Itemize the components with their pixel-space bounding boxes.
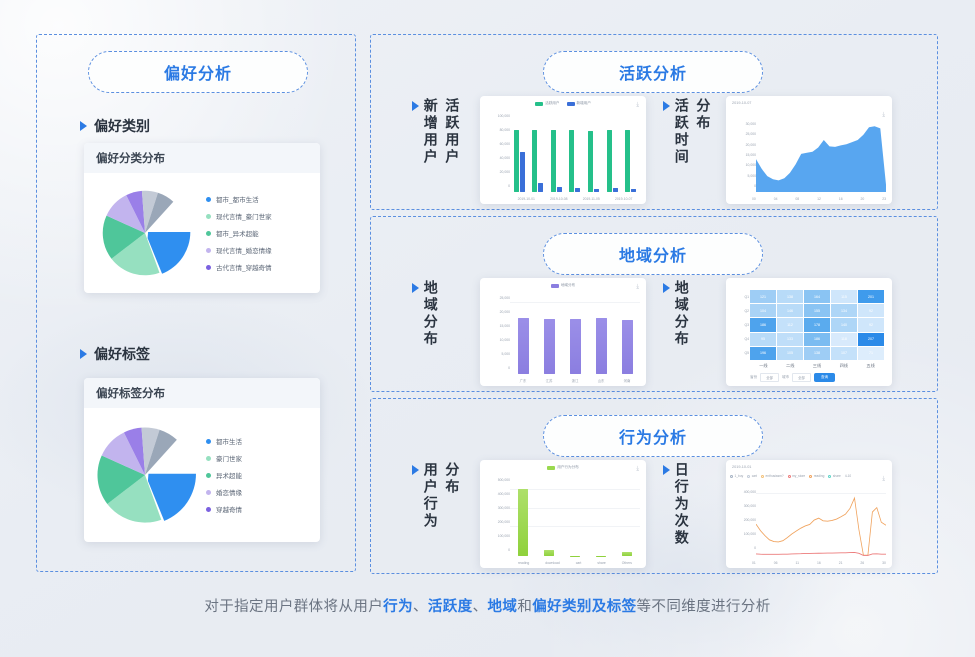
legend-dot-icon [206, 490, 211, 495]
y-tick: 40,000 [500, 156, 510, 160]
legend-label: 1_buy [735, 474, 744, 478]
bar-group [607, 114, 618, 192]
chart-card-active-time: 2019-10-07 ⤓ 30,000 25,000 20,000 15,000… [726, 96, 892, 204]
y-axis-labels: 400,000 300,000 200,000 100,000 0 [730, 490, 756, 550]
x-tick: share [597, 561, 605, 565]
bar-active [514, 130, 519, 192]
legend-dot-icon [206, 473, 211, 478]
pie-chart-1: 都市_都市生活 现代言情_豪门世家 都市_异术超能 现代言情_婚恋情缘 古代言情… [84, 173, 320, 293]
pie-1-legend: 都市_都市生活 现代言情_豪门世家 都市_异术超能 现代言情_婚恋情缘 古代言情… [204, 194, 320, 272]
chart-card-daily-behavior: 2019-10-01 1_buy cart enthusiasm? my_sto… [726, 460, 892, 568]
chart-card-new-active-users: 活跃用户 新增用户 ⤓ 100,000 80,000 60,000 40,000… [480, 96, 646, 204]
heat-cell[interactable]: 140 [831, 318, 857, 331]
heat-cell[interactable]: 105 [777, 347, 803, 360]
legend-label: 古代言情_穿越奇情 [216, 262, 272, 272]
bar-group [588, 114, 599, 192]
pie-graphic [86, 185, 204, 281]
heat-cell[interactable]: 155 [804, 304, 830, 317]
y-tick: 400,000 [744, 490, 756, 494]
legend-label: reading [814, 474, 825, 478]
x-tick: 01 [752, 561, 756, 565]
vertical-label: 分布 [696, 98, 711, 166]
caption-keyword-behavior: 行为 [383, 599, 413, 615]
vlabel-new-active-users: 新增用户 活跃用户 [412, 98, 459, 166]
vlabel-daily-behavior-count: 日行为次数 [663, 462, 689, 547]
bar-new [613, 188, 618, 192]
x-axis-labels: reading download cart share Others [510, 561, 640, 565]
x-axis-labels: 2019-10-01 2019-10-08 2019-11-05 2019-10… [510, 197, 640, 201]
heat-cell[interactable]: 92 [858, 318, 884, 331]
x-tick: 2019-10-07 [615, 197, 632, 201]
card-title: 偏好标签分布 [84, 378, 320, 408]
legend-label: 都市生活 [216, 436, 242, 446]
legend-item: 活跃用户 [535, 101, 559, 106]
heatmap-x-labels: 一线 二线 三线 四线 五线 [750, 363, 884, 369]
caption-text: 对于指定用户群体将从用户 [204, 599, 383, 615]
legend-label: enthusiasm? [766, 474, 784, 478]
y-tick: 25,000 [746, 132, 756, 136]
legend-item: 穿越奇情 [206, 504, 320, 514]
bar-active [532, 130, 537, 192]
legend-label: my_store [792, 474, 805, 478]
legend-dot-icon [206, 265, 211, 270]
x-tick: 广东 [520, 378, 527, 383]
pie-svg [91, 421, 199, 529]
legend-item[interactable]: cart [747, 474, 757, 478]
filter-label-province: 省份 [750, 375, 757, 380]
x-tick: 江苏 [546, 378, 553, 383]
x-tick: 一线 [759, 363, 767, 369]
legend-dot-icon [747, 475, 750, 478]
x-tick: 山东 [598, 378, 605, 383]
caption-text: 等不同维度进行分析 [637, 599, 771, 615]
section-title-preference: 偏好分析 [88, 51, 308, 93]
y-tick: Q4 [744, 337, 749, 341]
bar-series [510, 114, 640, 192]
x-tick: 30 [882, 561, 886, 565]
heat-cell[interactable]: 207 [858, 333, 884, 346]
heatmap-grid: 121 138 164 115 201 104 146 155 134 92 1… [750, 290, 884, 360]
heat-cell[interactable]: 186 [804, 333, 830, 346]
heat-cell[interactable]: 107 [831, 347, 857, 360]
legend-item: 新增用户 [567, 101, 591, 106]
download-icon[interactable]: ⤓ [636, 466, 639, 473]
y-tick: Q2 [744, 309, 749, 313]
triangle-bullet-icon [412, 101, 419, 111]
bar-new [575, 188, 580, 192]
legend-item: 现代言情_婚恋情缘 [206, 245, 320, 255]
bar-new [557, 187, 562, 192]
x-tick: 三线 [813, 363, 821, 369]
vertical-text-group: 用户行为 分布 [423, 462, 459, 530]
x-tick: reading [518, 561, 529, 565]
y-tick: Q1 [744, 295, 749, 299]
x-axis-labels: 广东 江苏 浙江 山东 河南 [510, 378, 640, 383]
filter-label-city: 城市 [782, 375, 789, 380]
triangle-bullet-icon [80, 121, 87, 131]
legend-label: 穿越奇情 [216, 504, 242, 514]
heat-cell[interactable]: 104 [750, 304, 776, 317]
x-tick: 11 [795, 561, 799, 565]
legend-dot-icon [788, 475, 791, 478]
y-tick: 100,000 [744, 532, 756, 536]
heat-cell[interactable]: 178 [804, 318, 830, 331]
x-tick: 08 [795, 197, 799, 201]
y-tick: 80,000 [500, 128, 510, 132]
bar-group [514, 114, 525, 192]
legend-item: 现代言情_豪门世家 [206, 211, 320, 221]
legend-dot-icon [206, 439, 211, 444]
bar [518, 489, 528, 556]
legend-item: 地域分布 [551, 283, 575, 288]
plot-area [510, 114, 640, 192]
heatmap-controls: 省份 全部 城市 全部 查询 [750, 373, 835, 382]
bar [518, 318, 529, 374]
bar [544, 319, 555, 374]
y-axis-labels: 100,000 80,000 60,000 40,000 20,000 0 [484, 114, 510, 188]
chart-card-geo-heatmap: Q1 Q2 Q3 Q4 Q5 121 138 164 115 201 104 1… [726, 278, 892, 386]
legend-dot-icon [809, 475, 812, 478]
date-filter-chip[interactable]: 2019-10-01 [732, 465, 751, 469]
legend-label: 现代言情_婚恋情缘 [216, 245, 272, 255]
x-tick: 16 [817, 561, 821, 565]
heat-cell[interactable]: 71 [858, 347, 884, 360]
triangle-bullet-icon [663, 283, 670, 293]
vlabel-active-time-distribution: 活跃时间 分布 [663, 98, 710, 166]
heat-cell[interactable]: 121 [750, 290, 776, 303]
vertical-text-group: 地域分布 [423, 280, 438, 348]
vertical-text-group: 地域分布 [674, 280, 689, 348]
download-icon[interactable]: ⤓ [636, 284, 639, 291]
vertical-label: 地域分布 [423, 280, 438, 348]
triangle-bullet-icon [412, 283, 419, 293]
pie-chart-2: 都市生活 豪门世家 异术超能 婚恋情缘 穿越奇情 [84, 408, 320, 542]
area-chart-svg [756, 122, 886, 192]
y-tick: 400,000 [498, 492, 510, 496]
heat-cell[interactable]: 112 [777, 318, 803, 331]
caption-keyword-preference: 偏好类别及标签 [532, 599, 636, 615]
heat-cell[interactable]: 196 [750, 347, 776, 360]
caption-text: 和 [517, 599, 532, 615]
y-tick: 100,000 [498, 114, 510, 118]
x-tick: cart [576, 561, 582, 565]
heat-cell[interactable]: 95 [750, 333, 776, 346]
x-tick: 00 [752, 197, 756, 201]
bar-active [588, 131, 593, 192]
vertical-text-group: 新增用户 活跃用户 [423, 98, 459, 166]
x-tick: 2019-11-05 [583, 197, 600, 201]
heat-cell[interactable]: 138 [777, 290, 803, 303]
legend-item: 都市_异术超能 [206, 228, 320, 238]
bar-series [510, 296, 640, 374]
vlabel-geo-distribution-heatmap: 地域分布 [663, 280, 689, 348]
legend-dot-icon [206, 214, 211, 219]
vertical-label: 活跃时间 [674, 98, 689, 166]
vlabel-geo-distribution-bar: 地域分布 [412, 280, 438, 348]
heat-cell[interactable]: 115 [831, 290, 857, 303]
triangle-bullet-icon [412, 465, 419, 475]
x-tick: 06 [774, 561, 778, 565]
pie-2-legend: 都市生活 豪门世家 异术超能 婚恋情缘 穿越奇情 [204, 436, 320, 514]
y-axis-labels: 25,000 20,000 15,000 10,000 5,000 0 [484, 296, 510, 370]
bar-group [551, 114, 562, 192]
query-button[interactable]: 查询 [814, 373, 835, 382]
legend-swatch-icon [551, 284, 559, 288]
footer-caption: 对于指定用户群体将从用户行为、活跃度、地域和偏好类别及标签等不同维度进行分析 [0, 595, 975, 616]
chart-card-geo-bar: 地域分布 ⤓ 25,000 20,000 15,000 10,000 5,000… [480, 278, 646, 386]
legend-label: 用户行为分布 [557, 465, 579, 470]
x-tick: 04 [774, 197, 778, 201]
legend-item: 都市_都市生活 [206, 194, 320, 204]
legend-dot-icon [206, 507, 211, 512]
y-tick: 20,000 [500, 310, 510, 314]
section-title-geography: 地域分析 [543, 233, 763, 275]
y-tick: 25,000 [500, 296, 510, 300]
triangle-bullet-icon [663, 465, 670, 475]
heat-cell[interactable]: 164 [804, 290, 830, 303]
chart-legend: 地域分布 [480, 283, 646, 288]
y-tick: 300,000 [498, 506, 510, 510]
y-axis-labels: 500,000 400,000 300,000 200,000 100,000 … [484, 478, 510, 552]
download-icon[interactable]: ⤓ [636, 102, 639, 109]
legend-dot-icon [828, 475, 831, 478]
legend-swatch-icon [567, 102, 575, 106]
filter-select-province[interactable]: 全部 [760, 373, 779, 382]
x-tick: 二线 [786, 363, 794, 369]
bar [570, 319, 581, 374]
heat-cell[interactable]: 186 [750, 318, 776, 331]
y-tick: 5,000 [748, 174, 757, 178]
legend-item[interactable]: 4-10 [845, 474, 851, 478]
y-tick: 5,000 [502, 352, 511, 356]
bar-group [625, 114, 636, 192]
legend-item: 用户行为分布 [547, 465, 579, 470]
vlabel-user-behavior-distribution: 用户行为 分布 [412, 462, 459, 530]
legend-label: 4-10 [845, 474, 851, 478]
date-filter-chip[interactable]: 2019-10-07 [732, 101, 751, 105]
x-tick: Others [622, 561, 632, 565]
y-tick: 10,000 [500, 338, 510, 342]
x-tick: 四线 [840, 363, 848, 369]
x-tick: 23 [882, 197, 886, 201]
legend-label: 地域分布 [561, 283, 575, 288]
y-tick: 300,000 [744, 504, 756, 508]
heading-label: 偏好类别 [94, 116, 150, 136]
caption-text: 、 [473, 599, 488, 615]
filter-select-city[interactable]: 全部 [792, 373, 811, 382]
bar [622, 552, 632, 556]
x-tick: 河南 [624, 378, 631, 383]
heat-cell[interactable]: 138 [804, 347, 830, 360]
legend-dot-icon [206, 197, 211, 202]
legend-label: 新增用户 [577, 101, 591, 106]
heat-cell[interactable]: 201 [858, 290, 884, 303]
bar [622, 320, 633, 374]
chart-legend: 活跃用户 新增用户 [480, 101, 646, 106]
legend-swatch-icon [535, 102, 543, 106]
x-tick: 12 [817, 197, 821, 201]
x-tick: 2019-10-01 [518, 197, 535, 201]
legend-label: cart [752, 474, 757, 478]
plot-area [756, 122, 886, 192]
bar-active [625, 130, 630, 192]
x-tick: 20 [861, 197, 865, 201]
bar-group [569, 114, 580, 192]
legend-item: 古代言情_穿越奇情 [206, 262, 320, 272]
y-tick: 200,000 [498, 520, 510, 524]
y-tick: 15,000 [746, 153, 756, 157]
vertical-label: 活跃用户 [445, 98, 460, 166]
y-tick: 30,000 [746, 122, 756, 126]
y-tick: Q3 [744, 323, 749, 327]
bar-active [607, 130, 612, 192]
bar-active [551, 130, 556, 192]
legend-dot-icon [206, 231, 211, 236]
legend-label: 现代言情_豪门世家 [216, 211, 272, 221]
infographic-stage: 偏好分析 偏好类别 偏好分类分布 [0, 0, 975, 657]
vertical-label: 分布 [445, 462, 460, 530]
y-tick: 100,000 [498, 534, 510, 538]
heat-cell[interactable]: 146 [777, 304, 803, 317]
legend-label: 都市_都市生活 [216, 194, 259, 204]
heading-preference-category: 偏好类别 [80, 116, 150, 136]
x-tick: download [545, 561, 560, 565]
legend-label: 活跃用户 [545, 101, 559, 106]
legend-label: share [833, 474, 841, 478]
x-axis-labels: 00 04 08 12 16 20 23 [752, 197, 886, 201]
legend-label: 豪门世家 [216, 453, 242, 463]
x-tick: 浙江 [572, 378, 579, 383]
y-tick: 60,000 [500, 142, 510, 146]
heading-label: 偏好标签 [94, 344, 150, 364]
legend-label: 婚恋情缘 [216, 487, 242, 497]
y-axis-labels: 30,000 25,000 20,000 15,000 10,000 5,000… [730, 122, 756, 188]
bar-active [569, 130, 574, 192]
vertical-label: 新增用户 [423, 98, 438, 166]
x-tick: 21 [839, 561, 843, 565]
legend-item[interactable]: my_store [788, 474, 806, 478]
line-chart-svg [756, 490, 886, 556]
chart-legend: 1_buy cart enthusiasm? my_store reading … [730, 474, 888, 478]
bar [596, 318, 607, 374]
x-tick: 26 [860, 561, 864, 565]
y-tick: 200,000 [744, 518, 756, 522]
card-preference-category-pie: 偏好分类分布 都市_都市生 [84, 143, 320, 293]
card-title: 偏好分类分布 [84, 143, 320, 173]
bar-new [594, 189, 599, 193]
plot-area [756, 490, 886, 556]
download-icon[interactable]: ⤓ [882, 476, 885, 483]
chart-card-user-behavior: 用户行为分布 ⤓ 500,000 400,000 300,000 200,000… [480, 460, 646, 568]
caption-keyword-geography: 地域 [488, 599, 518, 615]
vertical-label: 地域分布 [674, 280, 689, 348]
heat-cell[interactable]: 118 [831, 333, 857, 346]
x-tick: 2019-10-08 [550, 197, 567, 201]
heatmap-y-labels: Q1 Q2 Q3 Q4 Q5 [731, 290, 749, 360]
y-tick: 20,000 [746, 143, 756, 147]
vertical-text-group: 日行为次数 [674, 462, 689, 547]
caption-text: 、 [413, 599, 428, 615]
legend-item: 都市生活 [206, 436, 320, 446]
section-title-behavior: 行为分析 [543, 415, 763, 457]
legend-label: 都市_异术超能 [216, 228, 259, 238]
legend-item[interactable]: 1_buy [730, 474, 743, 478]
y-tick: Q5 [744, 351, 749, 355]
bar-group [532, 114, 543, 192]
vertical-label: 用户行为 [423, 462, 438, 530]
bar-series [510, 478, 640, 556]
heat-cell[interactable]: 134 [831, 304, 857, 317]
x-tick: 五线 [866, 363, 874, 369]
triangle-bullet-icon [663, 101, 670, 111]
legend-item: 异术超能 [206, 470, 320, 480]
legend-item: 豪门世家 [206, 453, 320, 463]
y-tick: 500,000 [498, 478, 510, 482]
heat-cell[interactable]: 133 [777, 333, 803, 346]
legend-item[interactable]: reading [809, 474, 824, 478]
legend-dot-icon [761, 475, 764, 478]
legend-dot-icon [730, 475, 733, 478]
legend-item[interactable]: enthusiasm? [761, 474, 784, 478]
bar [544, 550, 554, 556]
vertical-text-group: 活跃时间 分布 [674, 98, 710, 166]
y-tick: 10,000 [746, 163, 756, 167]
plot-area [510, 296, 640, 374]
bar-new [538, 183, 543, 192]
x-axis-labels: 01 06 11 16 21 26 30 [752, 561, 886, 565]
y-tick: 20,000 [500, 170, 510, 174]
vertical-label: 日行为次数 [674, 462, 689, 547]
legend-dot-icon [206, 456, 211, 461]
legend-label: 异术超能 [216, 470, 242, 480]
card-preference-tag-pie: 偏好标签分布 都市生活 [84, 378, 320, 542]
heading-preference-tag: 偏好标签 [80, 344, 150, 364]
pie-svg [97, 185, 193, 281]
plot-area [510, 478, 640, 556]
chart-legend: 用户行为分布 [480, 465, 646, 470]
x-tick: 16 [839, 197, 843, 201]
legend-swatch-icon [547, 466, 555, 470]
triangle-bullet-icon [80, 349, 87, 359]
download-icon[interactable]: ⤓ [882, 112, 885, 119]
pie-graphic [86, 421, 204, 529]
legend-item[interactable]: share [828, 474, 840, 478]
legend-dot-icon [206, 248, 211, 253]
caption-keyword-activity: 活跃度 [428, 599, 473, 615]
legend-item: 婚恋情缘 [206, 487, 320, 497]
y-tick: 15,000 [500, 324, 510, 328]
bar-new [520, 152, 525, 192]
heat-cell[interactable]: 92 [858, 304, 884, 317]
bar-new [631, 189, 636, 192]
section-title-activity: 活跃分析 [543, 51, 763, 93]
